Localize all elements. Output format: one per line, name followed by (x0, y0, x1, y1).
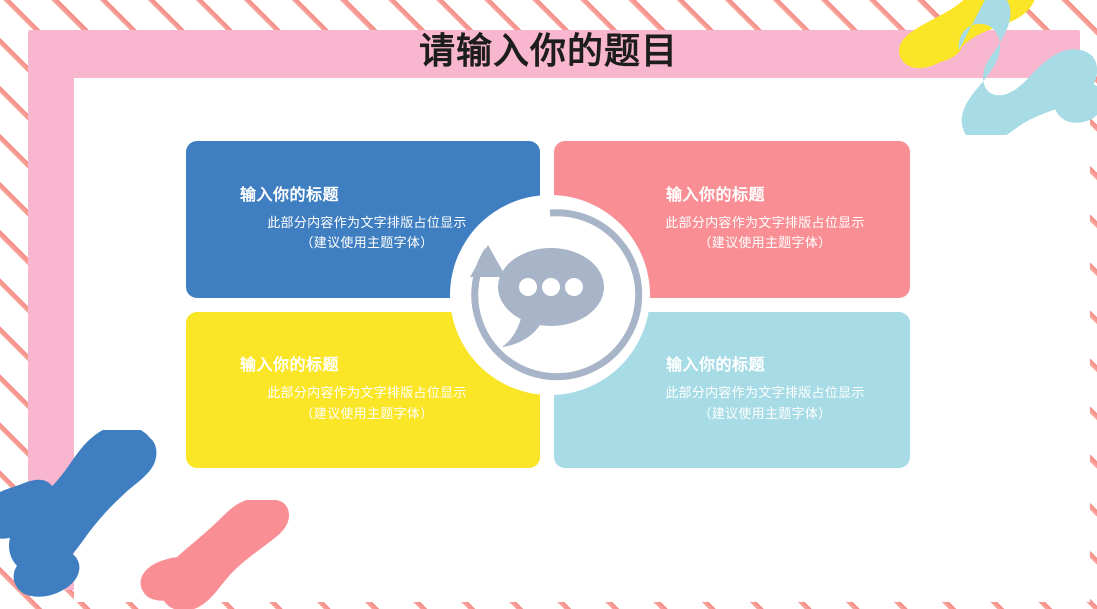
card-body-line-1: 此部分内容作为文字排版占位显示 (646, 384, 884, 404)
card-body-line-2: （建议使用主题字体） (220, 405, 514, 425)
center-emblem (450, 195, 650, 395)
presentation-slide: 请输入你的题目 输入你的标题 此部分内容作为文字排版占位显示 （建议使用主题字体… (0, 0, 1097, 609)
card-body-line-1: 此部分内容作为文字排版占位显示 (646, 214, 884, 234)
card-body-line-2: （建议使用主题字体） (646, 405, 884, 425)
speech-bubble-icon (450, 195, 650, 395)
card-body-line-2: （建议使用主题字体） (646, 234, 884, 254)
page-title: 请输入你的题目 (0, 22, 1097, 74)
